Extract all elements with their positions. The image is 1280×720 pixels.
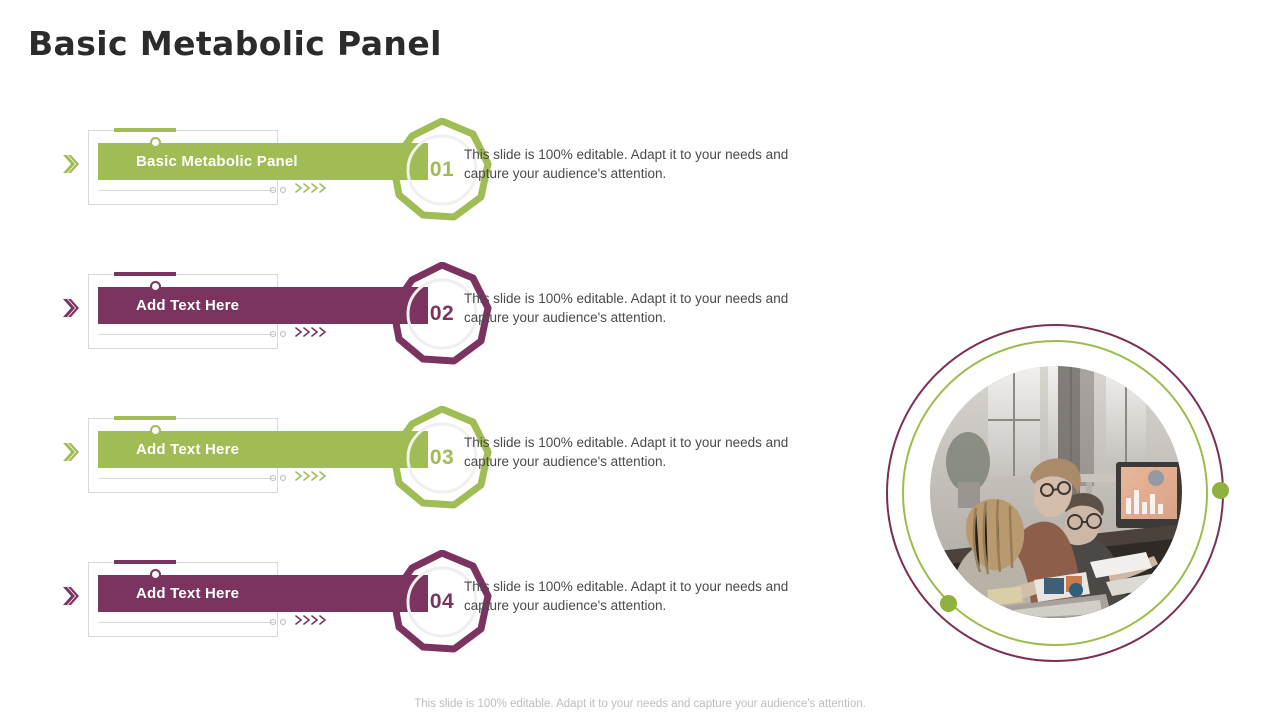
small-circle-icon — [280, 331, 286, 337]
triple-chevron-right-icon — [294, 613, 334, 632]
footer-note: This slide is 100% editable. Adapt it to… — [0, 698, 1280, 710]
page-title: Basic Metabolic Panel — [28, 24, 442, 63]
decoration-group — [270, 326, 334, 342]
small-circle-icon — [270, 475, 276, 481]
decoration-group — [270, 182, 334, 198]
image-decoration-block — [880, 318, 1240, 668]
row-label: Add Text Here — [98, 297, 239, 314]
row-bar[interactable]: Add Text Here — [98, 575, 428, 612]
accent-line — [114, 560, 176, 564]
row-description: This slide is 100% editable. Adapt it to… — [464, 146, 824, 183]
decoration-group — [270, 614, 334, 630]
list-item[interactable]: Add Text Here 03 This slide is 100% edit… — [62, 406, 852, 526]
row-bar[interactable]: Add Text Here — [98, 431, 428, 468]
knob-dot — [150, 137, 161, 148]
decoration-group — [270, 470, 334, 486]
small-circle-icon — [280, 619, 286, 625]
accent-line — [114, 416, 176, 420]
triple-chevron-right-icon — [294, 181, 334, 200]
ring-dot-right — [1212, 482, 1229, 499]
under-rule — [98, 334, 274, 335]
triple-chevron-right-icon — [294, 469, 334, 488]
under-rule — [98, 478, 274, 479]
row-description: This slide is 100% editable. Adapt it to… — [464, 578, 824, 615]
row-bar[interactable]: Basic Metabolic Panel — [98, 143, 428, 180]
knob-dot — [150, 569, 161, 580]
accent-line — [114, 128, 176, 132]
row-label: Basic Metabolic Panel — [98, 153, 298, 170]
double-chevron-right-icon — [62, 297, 80, 319]
small-circle-icon — [270, 187, 276, 193]
small-circle-icon — [280, 475, 286, 481]
small-circle-icon — [270, 331, 276, 337]
ring-dot-left — [940, 595, 957, 612]
small-circle-icon — [280, 187, 286, 193]
double-chevron-right-icon — [62, 441, 80, 463]
double-chevron-right-icon — [62, 585, 80, 607]
triple-chevron-right-icon — [294, 325, 334, 344]
list-item[interactable]: Basic Metabolic Panel 01 This slide is 1… — [62, 118, 852, 238]
knob-dot — [150, 281, 161, 292]
accent-line — [114, 272, 176, 276]
row-label: Add Text Here — [98, 585, 239, 602]
double-chevron-right-icon — [62, 153, 80, 175]
under-rule — [98, 622, 274, 623]
row-description: This slide is 100% editable. Adapt it to… — [464, 290, 824, 327]
row-label: Add Text Here — [98, 441, 239, 458]
team-photo — [930, 366, 1182, 618]
knob-dot — [150, 425, 161, 436]
list-item[interactable]: Add Text Here 02 This slide is 100% edit… — [62, 262, 852, 382]
row-description: This slide is 100% editable. Adapt it to… — [464, 434, 824, 471]
list-item[interactable]: Add Text Here 04 This slide is 100% edit… — [62, 550, 852, 670]
row-bar[interactable]: Add Text Here — [98, 287, 428, 324]
under-rule — [98, 190, 274, 191]
small-circle-icon — [270, 619, 276, 625]
